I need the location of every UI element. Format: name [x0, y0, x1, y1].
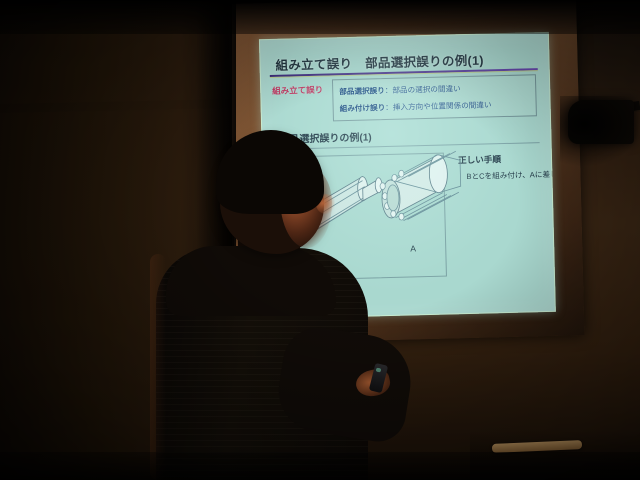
floor-shadow: [0, 452, 640, 480]
definition-text-1: 部品の選択の間違い: [392, 84, 461, 95]
definition-text-2: 挿入方向や位置関係の間違い: [393, 100, 492, 111]
presenter-hair: [216, 130, 324, 214]
slide-category-label: 組み立て誤り: [272, 84, 323, 97]
presenter-rim-light: [150, 254, 166, 480]
procedure-heading: 正しい手順: [458, 153, 501, 166]
definition-term-1: 部品選択誤り: [339, 86, 385, 96]
definition-row-2: 組み付け誤り：挿入方向や位置関係の間違い: [340, 99, 492, 114]
procedure-text: BとCを組み付け、Aに差し込む: [466, 168, 556, 182]
definition-row-1: 部品選択誤り：部品の選択の間違い: [339, 83, 461, 97]
presenter-silhouette: [120, 118, 420, 480]
photo-scene: 組み立て誤り 部品選択誤りの例(1) 組み立て誤り 部品選択誤り：部品の選択の間…: [0, 0, 640, 480]
speaker-shadow: [560, 96, 640, 166]
definition-term-2: 組み付け誤り: [340, 103, 386, 113]
definition-box: 部品選択誤り：部品の選択の間違い 組み付け誤り：挿入方向や位置関係の間違い: [332, 74, 537, 121]
presenter-shoulders: [166, 246, 336, 316]
